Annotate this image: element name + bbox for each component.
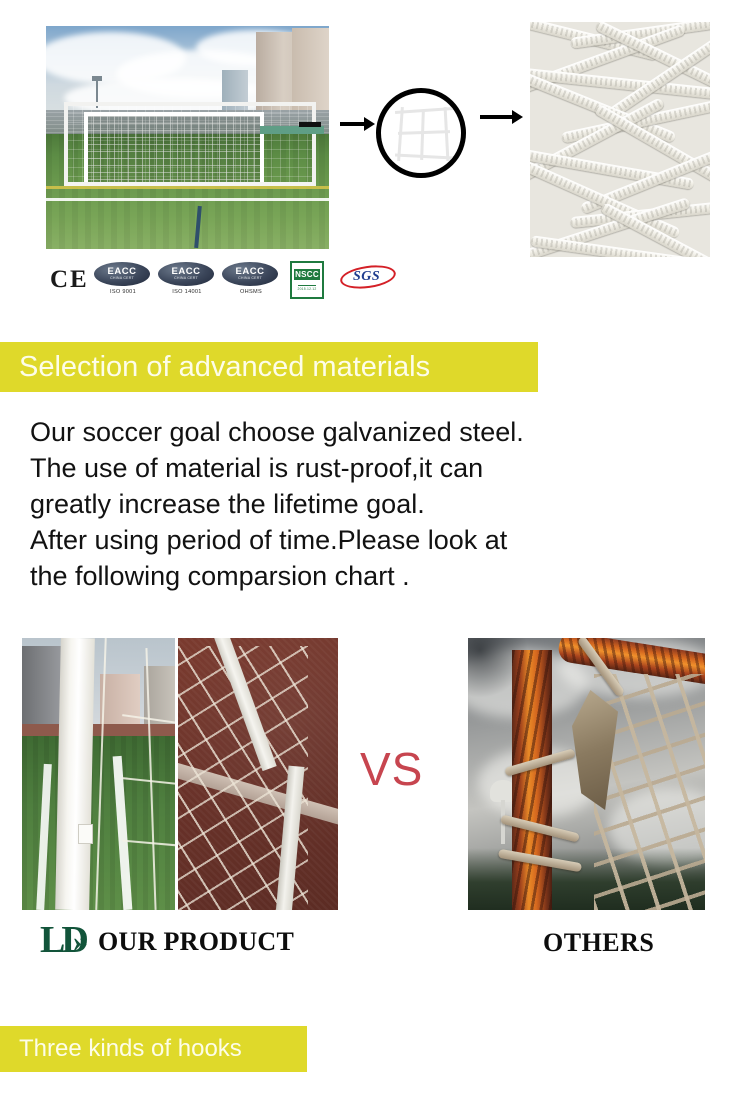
section-heading-text: Selection of advanced materials bbox=[0, 351, 430, 384]
bottom-heading-text: Three kinds of hooks bbox=[0, 1035, 242, 1063]
clean-white-goal-post-photo bbox=[22, 638, 175, 910]
chevron-right-icon: » bbox=[73, 927, 82, 957]
body-line: After using period of time.Please look a… bbox=[30, 522, 720, 558]
arrow-right-icon bbox=[340, 117, 376, 131]
sgs-badge: SGS bbox=[340, 264, 396, 292]
photo-black-bar bbox=[299, 122, 321, 127]
goal-frame-inner bbox=[84, 112, 264, 186]
rusted-goal-post-photo bbox=[468, 638, 705, 910]
soccer-goal-on-field-photo bbox=[46, 26, 329, 249]
body-line: Our soccer goal choose galvanized steel. bbox=[30, 414, 720, 450]
rust-texture bbox=[512, 650, 552, 910]
bottom-heading-banner: Three kinds of hooks bbox=[0, 1026, 307, 1072]
braided-white-rope-closeup-photo bbox=[530, 22, 710, 257]
body-paragraph: Our soccer goal choose galvanized steel.… bbox=[30, 414, 720, 594]
section-heading-banner: Selection of advanced materials bbox=[0, 342, 538, 392]
net-mesh-detail bbox=[395, 107, 453, 161]
white-field-line bbox=[46, 198, 329, 201]
eacc-oval-icon: EACC CHINA CERT bbox=[94, 262, 150, 286]
eacc-sub-text: CHINA CERT bbox=[174, 276, 198, 281]
versus-label: VS bbox=[360, 742, 423, 796]
background-building bbox=[22, 646, 64, 734]
eacc-caption: ISO 14001 bbox=[158, 289, 216, 295]
body-line: the following comparsion chart . bbox=[30, 558, 720, 594]
eacc-brand-text: EACC bbox=[236, 267, 265, 276]
clean-goal-frame-corner-photo bbox=[178, 638, 338, 910]
eacc-sub-text: CHINA CERT bbox=[238, 276, 262, 281]
others-label: OTHERS bbox=[543, 928, 654, 958]
arrow-right-icon bbox=[480, 110, 524, 122]
our-product-label-group: LD » OUR PRODUCT bbox=[40, 925, 294, 959]
magnifier-circle bbox=[376, 88, 466, 178]
eacc-brand-text: EACC bbox=[172, 267, 201, 276]
eacc-brand-text: EACC bbox=[108, 267, 137, 276]
field-side-structure bbox=[260, 126, 324, 134]
yellow-field-line bbox=[46, 186, 329, 189]
eacc-ohsms-badge: EACC CHINA CERT OHSMS bbox=[222, 262, 280, 300]
ce-mark-icon: CE bbox=[50, 266, 89, 294]
nscc-date: 2015.12.12 bbox=[298, 285, 317, 291]
eacc-sub-text: CHINA CERT bbox=[110, 276, 134, 281]
brand-logo: LD » bbox=[40, 925, 94, 959]
net-clip-hook bbox=[78, 824, 93, 844]
body-line: The use of material is rust-proof,it can bbox=[30, 450, 720, 486]
our-product-label: OUR PRODUCT bbox=[98, 927, 294, 957]
eacc-caption: OHSMS bbox=[222, 289, 280, 295]
top-flow-section bbox=[0, 0, 750, 255]
nscc-label: NSCC bbox=[294, 269, 320, 280]
eacc-oval-icon: EACC CHINA CERT bbox=[158, 262, 214, 286]
eacc-iso9001-badge: EACC CHINA CERT ISO 9001 bbox=[94, 262, 152, 300]
body-line: greatly increase the lifetime goal. bbox=[30, 486, 720, 522]
sgs-label: SGS bbox=[353, 269, 380, 285]
eacc-oval-icon: EACC CHINA CERT bbox=[222, 262, 278, 286]
certification-badge-row: CE EACC CHINA CERT ISO 9001 EACC CHINA C… bbox=[0, 258, 750, 306]
eacc-caption: ISO 9001 bbox=[94, 289, 152, 295]
white-goal-post bbox=[55, 638, 95, 910]
eacc-iso14001-badge: EACC CHINA CERT ISO 14001 bbox=[158, 262, 216, 300]
nscc-badge: NSCC 2015.12.12 bbox=[290, 261, 324, 299]
